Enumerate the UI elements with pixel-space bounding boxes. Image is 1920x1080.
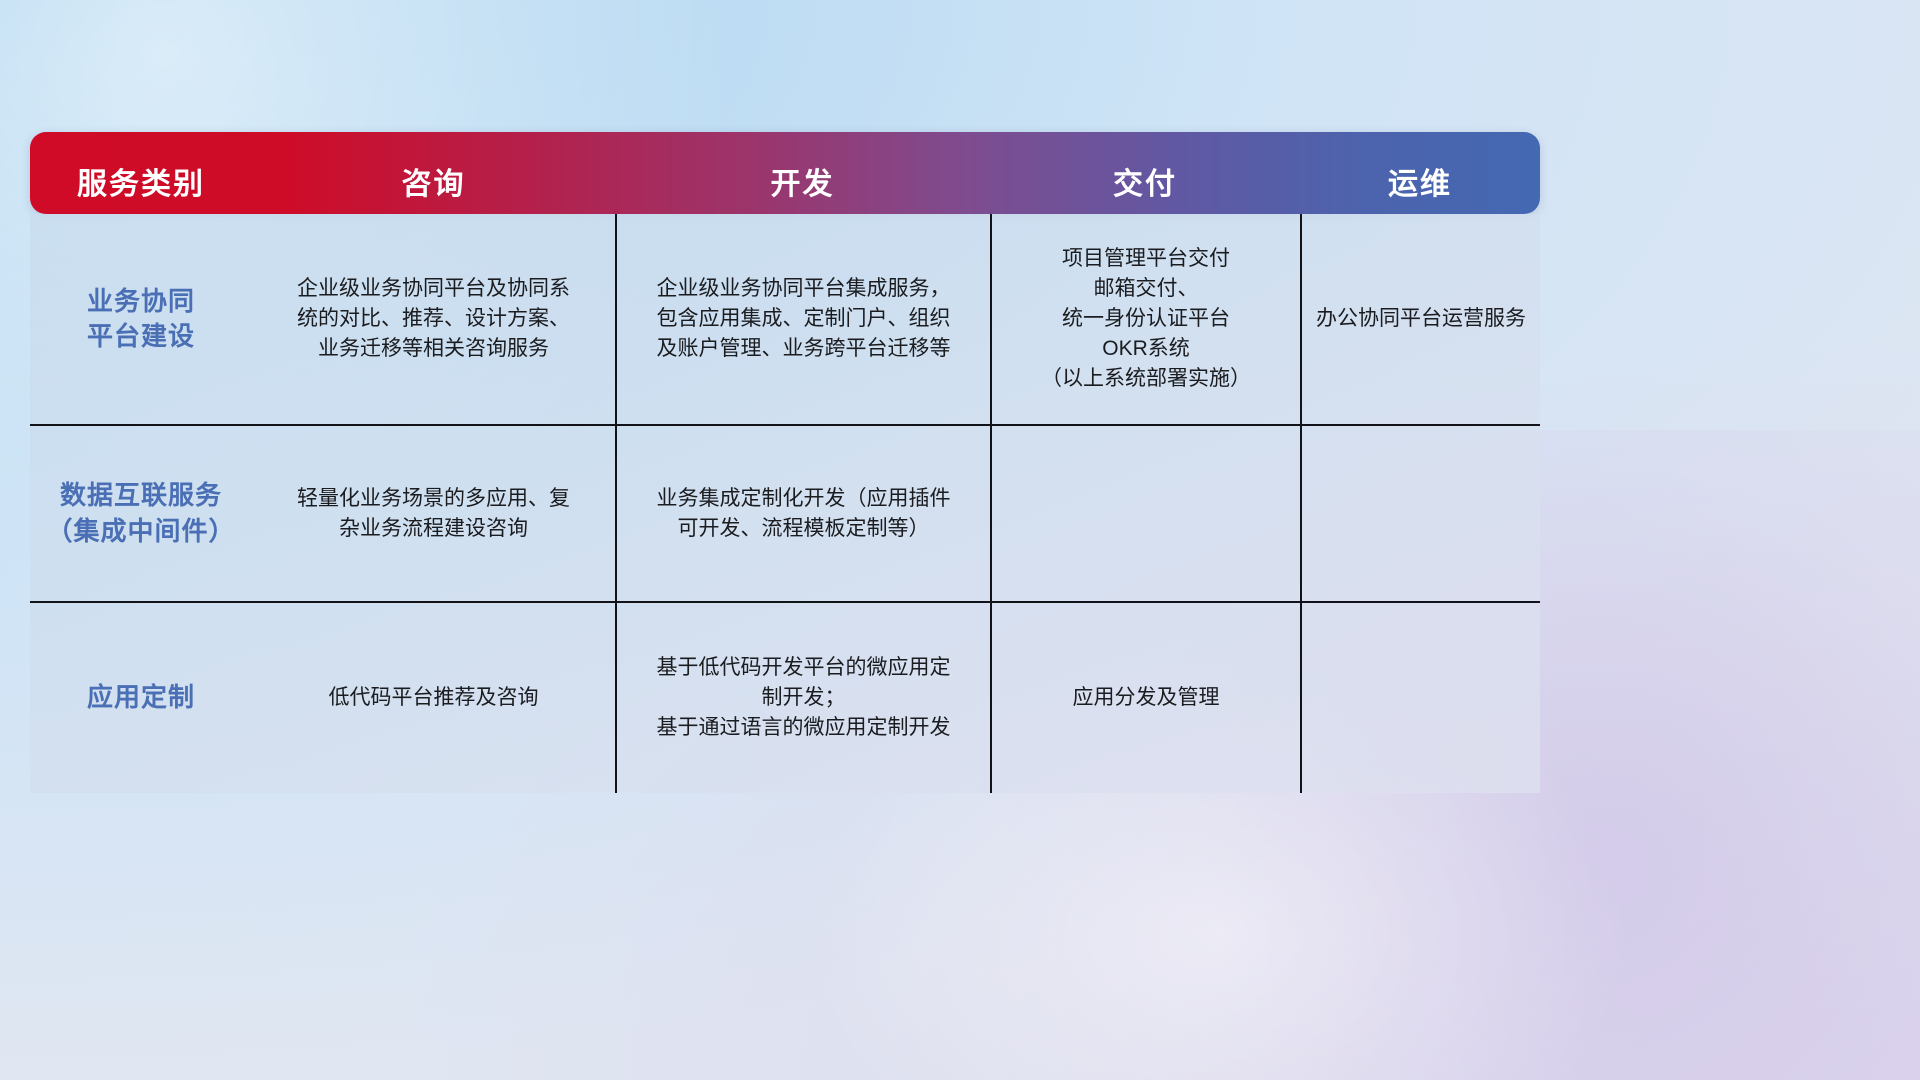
cell-delivery: 应用分发及管理 [990, 603, 1300, 793]
cell-consulting: 低代码平台推荐及咨询 [252, 603, 615, 793]
cell-delivery [990, 426, 1300, 601]
cell-consulting: 企业级业务协同平台及协同系 统的对比、推荐、设计方案、 业务迁移等相关咨询服务 [252, 214, 615, 424]
cell-development: 企业级业务协同平台集成服务， 包含应用集成、定制门户、组织 及账户管理、业务跨平… [615, 214, 990, 424]
table-header-cell-operations: 运维 [1300, 170, 1540, 214]
cell-development: 基于低代码开发平台的微应用定 制开发； 基于通过语言的微应用定制开发 [615, 603, 990, 793]
table-body: 业务协同 平台建设 企业级业务协同平台及协同系 统的对比、推荐、设计方案、 业务… [30, 214, 1540, 793]
cell-delivery: 项目管理平台交付 邮箱交付、 统一身份认证平台 OKR系统 （以上系统部署实施） [990, 214, 1300, 424]
cell-operations: 办公协同平台运营服务 [1300, 214, 1540, 424]
table-row: 业务协同 平台建设 企业级业务协同平台及协同系 统的对比、推荐、设计方案、 业务… [30, 214, 1540, 424]
table-row: 应用定制 低代码平台推荐及咨询 基于低代码开发平台的微应用定 制开发； 基于通过… [30, 601, 1540, 793]
cell-consulting: 轻量化业务场景的多应用、复 杂业务流程建设咨询 [252, 426, 615, 601]
table-header-cell-development: 开发 [615, 170, 990, 214]
row-category-label: 应用定制 [30, 603, 252, 793]
cell-operations [1300, 603, 1540, 793]
table-header-row: 服务类别 咨询 开发 交付 运维 [30, 132, 1540, 214]
service-matrix-table: 服务类别 咨询 开发 交付 运维 业务协同 平台建设 企业级业务协同平台及协同系… [30, 132, 1540, 793]
table-row: 数据互联服务 （集成中间件） 轻量化业务场景的多应用、复 杂业务流程建设咨询 业… [30, 424, 1540, 601]
cell-development: 业务集成定制化开发（应用插件 可开发、流程模板定制等） [615, 426, 990, 601]
table-header-cell-category: 服务类别 [30, 170, 252, 214]
table-header-cell-consulting: 咨询 [252, 170, 615, 214]
table-header-cell-delivery: 交付 [990, 170, 1300, 214]
cell-operations [1300, 426, 1540, 601]
row-category-label: 数据互联服务 （集成中间件） [30, 426, 252, 601]
row-category-label: 业务协同 平台建设 [30, 214, 252, 424]
